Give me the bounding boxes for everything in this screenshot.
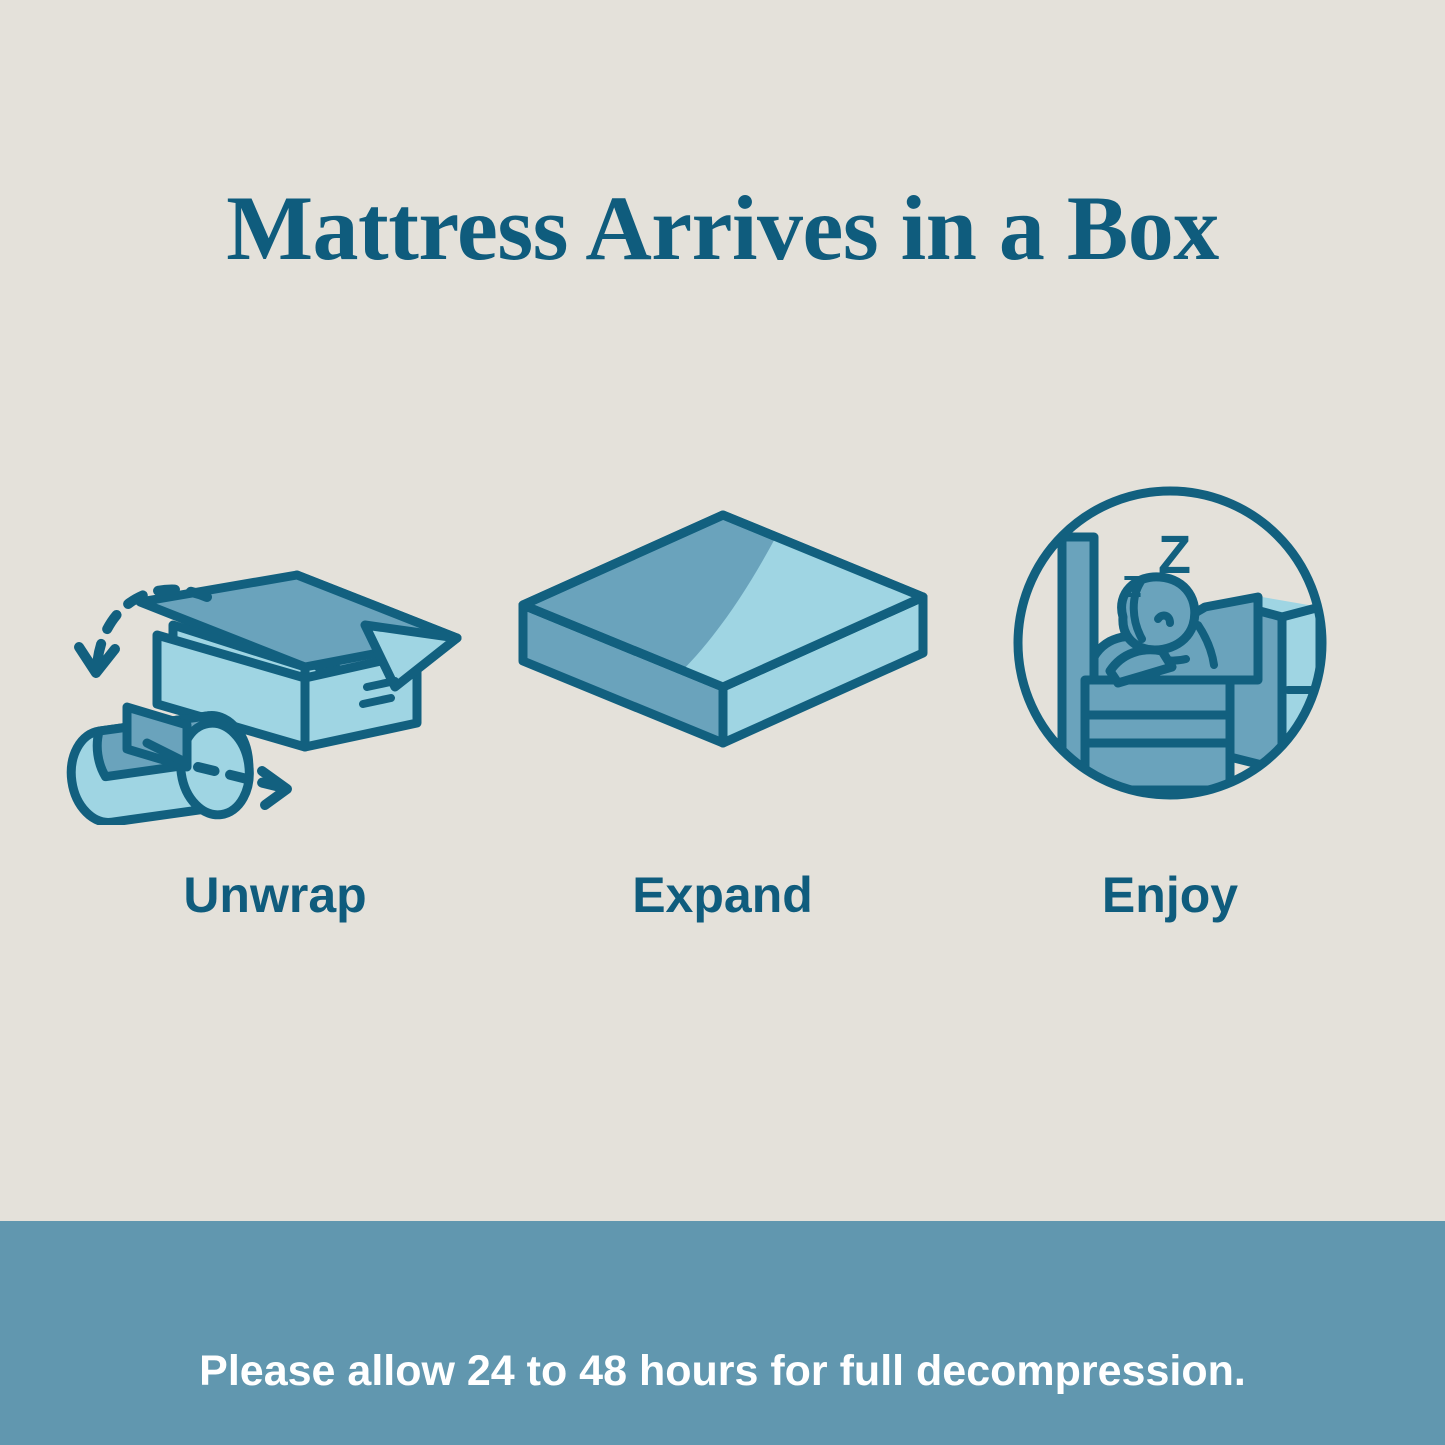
- expand-illustration: [508, 470, 938, 830]
- step-label-enjoy: Enjoy: [1102, 870, 1238, 920]
- step-label-unwrap: Unwrap: [183, 870, 366, 920]
- steps-row: Unwrap: [0, 470, 1445, 920]
- unwrap-illustration: [60, 470, 490, 830]
- infographic-page: Mattress Arrives in a Box: [0, 0, 1445, 1445]
- step-enjoy: z Z Enjoy: [955, 470, 1385, 920]
- open-box-with-rolled-mattress-icon: [65, 475, 485, 825]
- page-title: Mattress Arrives in a Box: [0, 180, 1445, 277]
- enjoy-illustration: z Z: [955, 470, 1385, 830]
- step-expand: Expand: [508, 470, 938, 920]
- decompression-banner: Please allow 24 to 48 hours for full dec…: [0, 1221, 1445, 1445]
- step-label-expand: Expand: [632, 870, 813, 920]
- flat-mattress-icon: [513, 475, 933, 825]
- banner-message: Please allow 24 to 48 hours for full dec…: [199, 1346, 1246, 1398]
- step-unwrap: Unwrap: [60, 470, 490, 920]
- sleeping-person-in-bed-icon: z Z: [990, 475, 1350, 825]
- sleep-symbol-small: z: [1122, 562, 1142, 606]
- sleep-symbol-large: Z: [1158, 525, 1191, 585]
